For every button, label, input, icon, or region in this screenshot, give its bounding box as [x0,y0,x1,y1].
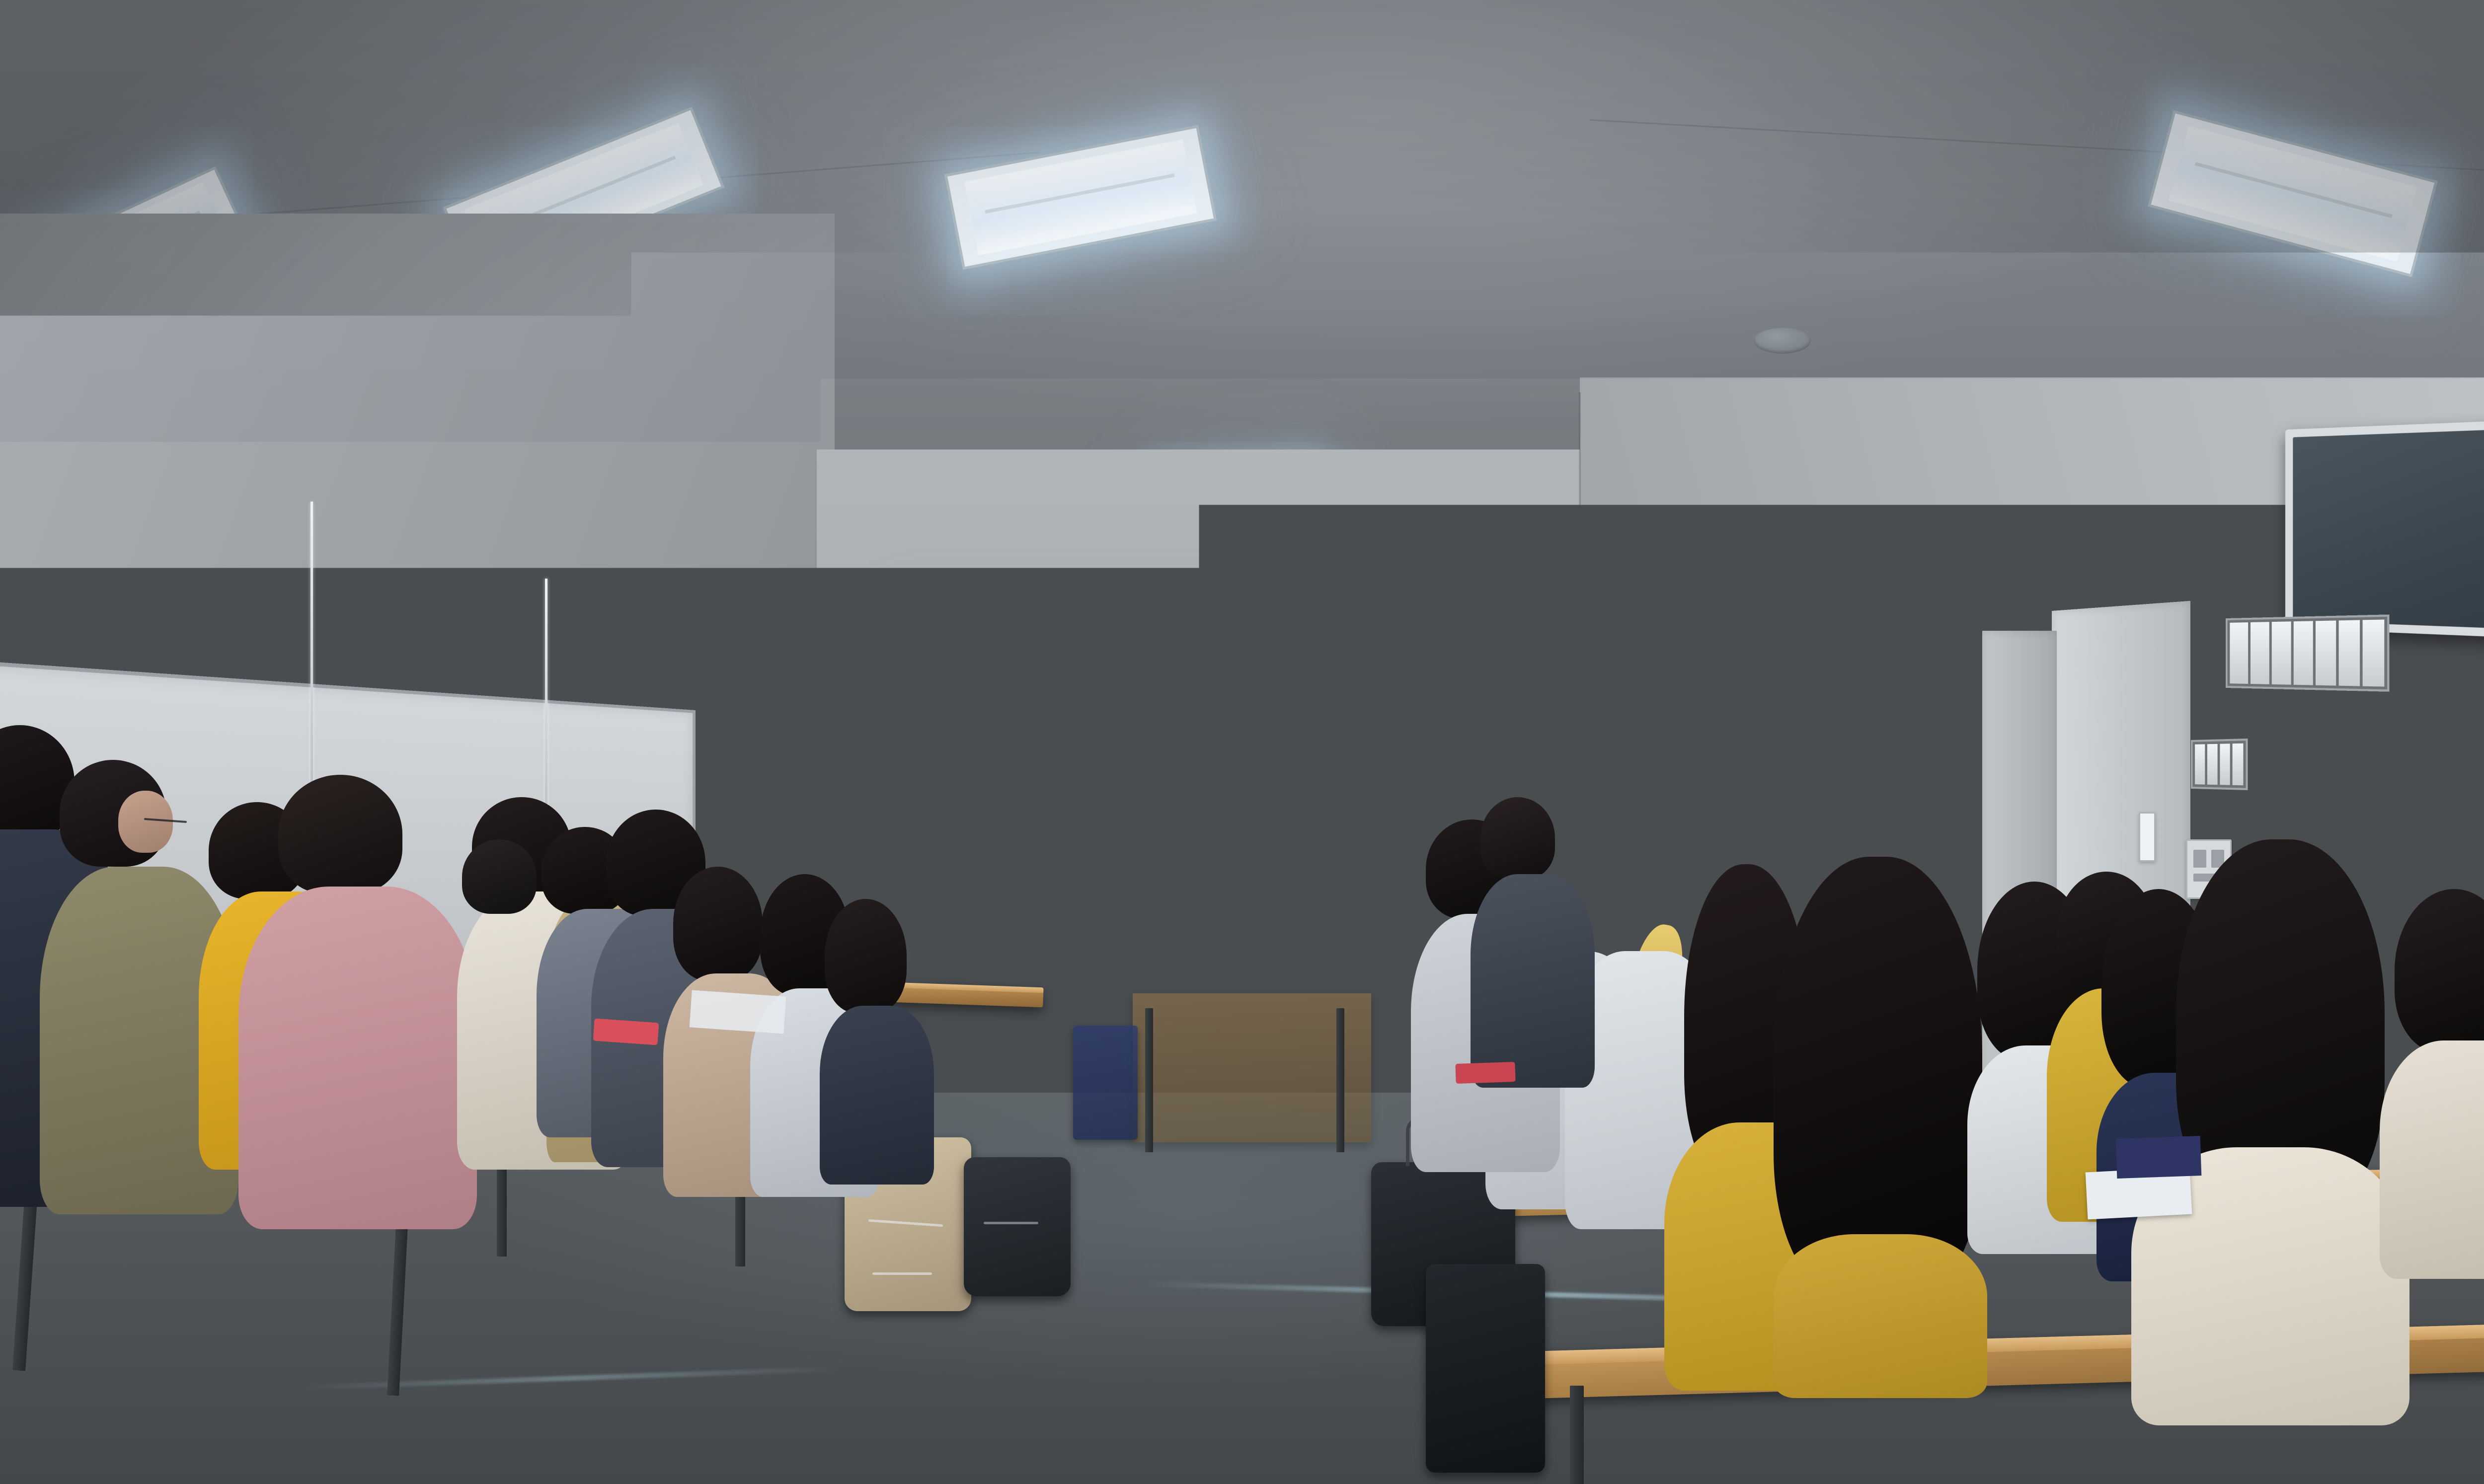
red-pouch [593,1019,659,1045]
cell-what: 임용 시험 일정 안내(변동가능성 有) [1147,729,1351,740]
cell-what: 지역별 수업 실연, 심층면접,교수학습과정안 작성 [1147,825,1351,846]
cell-what: 지역별 고사장 확인 및 수험표 출력 [1147,762,1351,773]
light-switch [2139,812,2156,862]
table-leg [1336,1008,1344,1152]
column-header-when: 시기 [942,698,1147,729]
slide-title: 3. 임용시험 일정 [994,654,1143,684]
cell-what: 지역별 선발 유무 및 선발 인원 확인 [1147,740,1351,751]
front-table-side [1133,993,1371,1142]
cell-when: 1차 시험(11월 초 중순) [942,773,1147,804]
cell-what: 응시 지역 원서 접수 [1147,751,1351,762]
tote-bag [1426,1264,1545,1473]
beach-ball-icon [964,660,989,685]
cell-when: 2차 시험(다음해 1월 초) [942,825,1147,846]
cell-when: 1차 시험 합격자 발표(12월 중순) [942,814,1147,825]
cell-when: 1차 시험 장소 공고(11월 초) [942,762,1147,773]
notebook [2116,1136,2202,1179]
slide-body: 시기 내용 시험 예정 공고(5월 중순)임용 시험 일정 안내(변동가능성 有… [935,693,1358,971]
table-row: 2차 시험(다음해 1월 초)지역별 수업 실연, 심층면접,교수학습과정안 작… [942,825,1351,846]
wall-mounted-tv [2285,412,2484,646]
schedule-table: 시기 내용 시험 예정 공고(5월 중순)임용 시험 일정 안내(변동가능성 有… [941,698,1352,867]
wall-clock [822,819,881,878]
window-louvers [2191,739,2248,790]
table-row: 1차 시험 장소 공고(11월 초)지역별 고사장 확인 및 수험표 출력 [942,762,1351,773]
slide-header: 3. 임용시험 일정 [925,644,1369,693]
cell-what: 신입 교사 연수 준비 및 임용을 위한 서류 준비 [1147,856,1351,867]
table-row: 원서접수(10월 중순)응시 지역 원서 접수 [942,751,1351,762]
blind-cord [310,502,313,810]
table-leg [1145,1008,1153,1152]
table-row: 최종 합격자 발표(다음해 1월 말)신입 교사 연수 준비 및 임용을 위한 … [942,856,1351,867]
paper-sheet [690,990,786,1034]
lecture-hall-photo: 3. 임용시험 일정 시기 내용 시험 예정 공고(5월 중순)임용 시험 일정… [0,0,2484,1484]
column-header-what: 내용 [1147,698,1351,729]
table-row: 1차 시험 합격자 발표(12월 중순)모집 인원의 1.5배수 선발 검정 [942,814,1351,825]
cell-when: 시험 시행 공고(10월 초) [942,740,1147,751]
cell-what: 1교시 교직논술 (09:00~10:00)2교시 교육과정A (10:40~1… [1147,773,1351,804]
blind-cord [545,579,547,842]
duffel-bag [964,1157,1071,1296]
cell-what: 모집 인원의 1.5배수 선발 검정 [1147,814,1351,825]
smoke-detector-icon [1754,328,1811,354]
red-pouch [1455,1062,1515,1084]
cell-when: 시험 예정 공고(5월 중순) [942,729,1147,740]
table-row: 시험 시행 공고(10월 초)지역별 선발 유무 및 선발 인원 확인 [942,740,1351,751]
desk-leg [1570,1386,1584,1484]
projection-screen: 3. 임용시험 일정 시기 내용 시험 예정 공고(5월 중순)임용 시험 일정… [920,640,1373,982]
table-spacer-row [942,804,1351,814]
chair [1073,1026,1138,1140]
cell-when: 최종 합격자 발표(다음해 1월 말) [942,856,1147,867]
cell-when: 원서접수(10월 중순) [942,751,1147,762]
table-row: 1차 시험(11월 초 중순)1교시 교직논술 (09:00~10:00)2교시… [942,773,1351,804]
presentation-slide: 3. 임용시험 일정 시기 내용 시험 예정 공고(5월 중순)임용 시험 일정… [925,644,1369,978]
table-spacer-row [942,846,1351,856]
table-header-row: 시기 내용 [942,698,1351,729]
table-row: 시험 예정 공고(5월 중순)임용 시험 일정 안내(변동가능성 有) [942,729,1351,740]
window-louvers [2226,614,2390,692]
teddy-bear-icon [931,650,967,687]
